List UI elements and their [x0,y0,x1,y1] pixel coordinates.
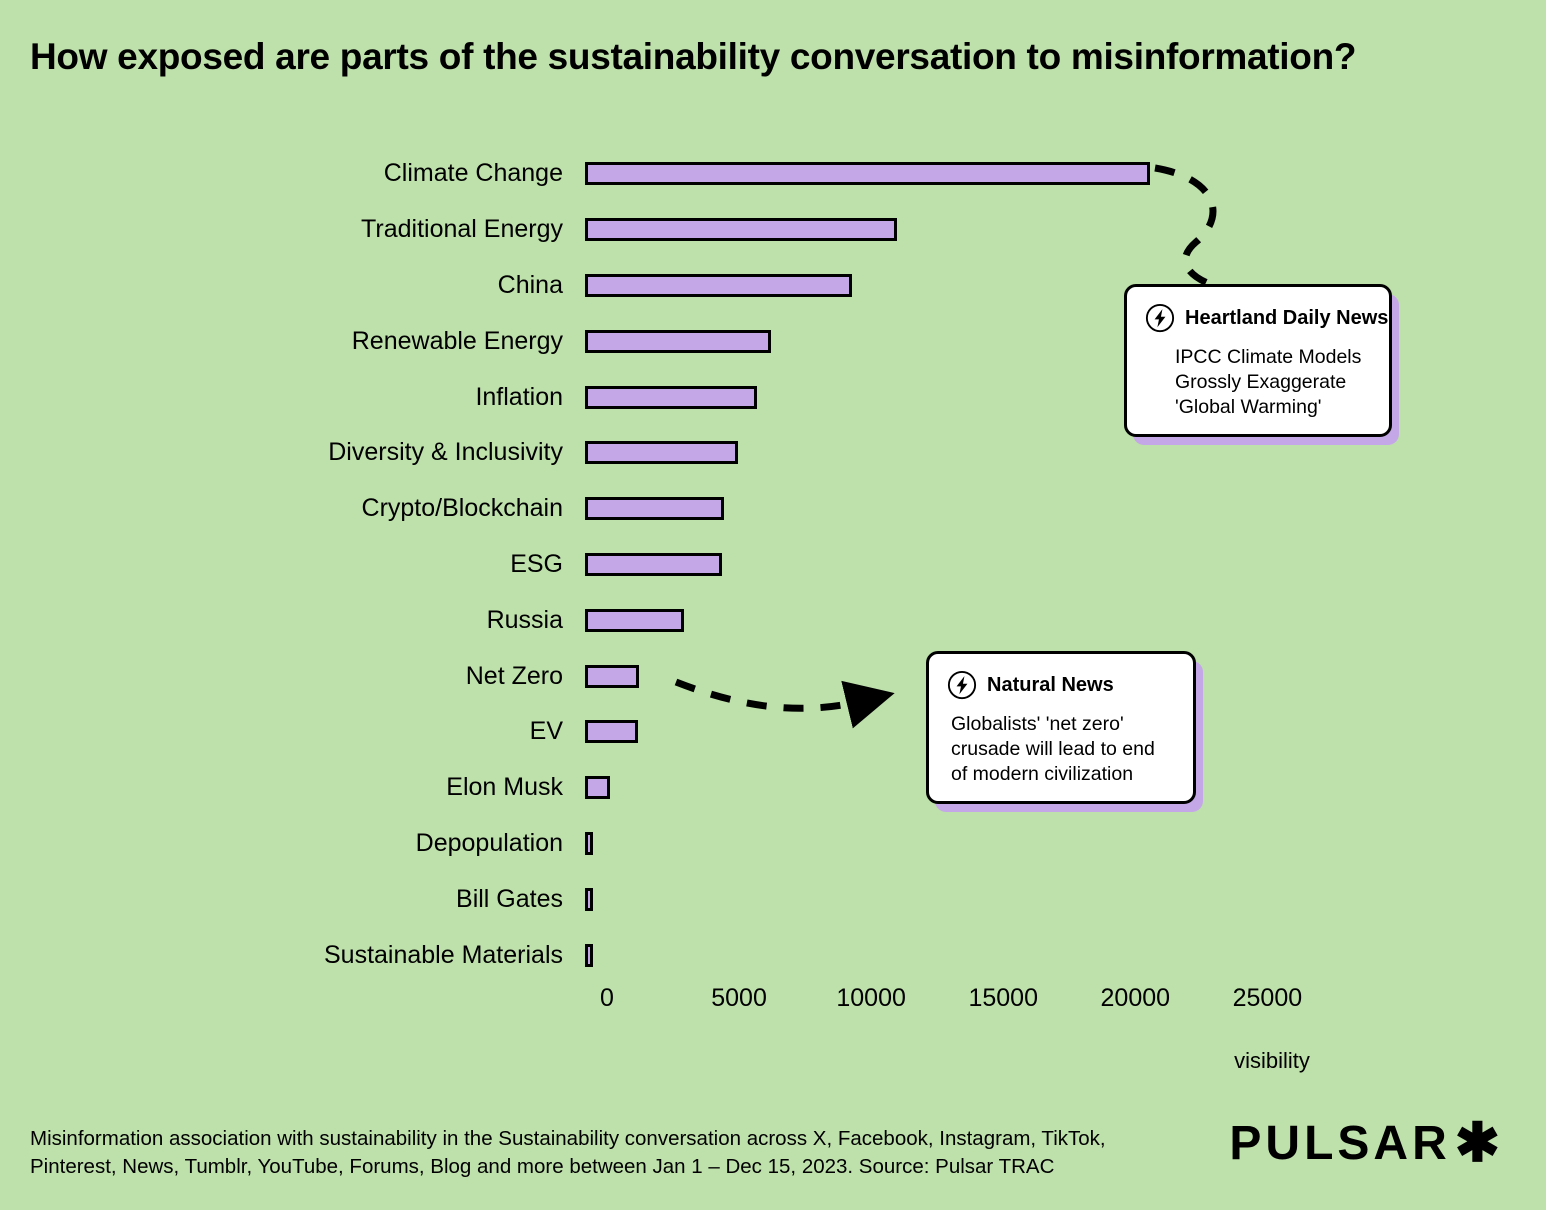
bar-track [585,537,1330,593]
footer-line-2: Pinterest, News, Tumblr, YouTube, Forums… [30,1153,1106,1181]
bar-row: Climate Change [0,146,1330,202]
bar-category-label: Inflation [0,385,585,410]
x-axis-label: visibility [0,1048,1546,1074]
bar-track [585,202,1330,258]
bar[interactable] [585,386,757,409]
bar-row: Bill Gates [0,871,1330,927]
bar-row: Russia [0,592,1330,648]
bar-category-label: Russia [0,608,585,633]
bar-row: Traditional Energy [0,202,1330,258]
x-tick-label: 20000 [1101,984,1171,1013]
bar[interactable] [585,497,724,520]
bar-track [585,927,1330,983]
callout-header: Natural News [947,670,1175,700]
callout-headline: IPCC Climate Models Grossly Exaggerate '… [1145,345,1371,420]
bar-category-label: Crypto/Blockchain [0,496,585,521]
lightning-bolt-icon [1145,303,1175,333]
lightning-bolt-icon [947,670,977,700]
bar[interactable] [585,274,852,297]
bar[interactable] [585,665,639,688]
logo-wordmark: PULSAR [1229,1116,1450,1171]
bar-row: Sustainable Materials [0,927,1330,983]
infographic-page: How exposed are parts of the sustainabil… [0,0,1546,1210]
bar-category-label: Depopulation [0,831,585,856]
x-tick-label: 15000 [968,984,1038,1013]
bar-category-label: China [0,273,585,298]
bar[interactable] [585,832,593,855]
bar-track [585,481,1330,537]
bar[interactable] [585,441,738,464]
bar[interactable] [585,609,684,632]
bar-track [585,816,1330,872]
bar-track [585,592,1330,648]
bar[interactable] [585,776,610,799]
bar-category-label: Traditional Energy [0,217,585,242]
bar[interactable] [585,888,593,911]
bar-row: ESG [0,537,1330,593]
bar-track [585,871,1330,927]
footer-line-1: Misinformation association with sustaina… [30,1125,1106,1153]
bar-category-label: Elon Musk [0,775,585,800]
callout-source-name: Natural News [987,674,1114,697]
bar-rows: Climate ChangeTraditional EnergyChinaRen… [0,146,1330,983]
footer-note: Misinformation association with sustaina… [30,1125,1106,1182]
bar-category-label: Net Zero [0,664,585,689]
x-tick-label: 10000 [836,984,906,1013]
bar[interactable] [585,330,771,353]
bar-category-label: Diversity & Inclusivity [0,440,585,465]
bar-track [585,146,1330,202]
bar-category-label: ESG [0,552,585,577]
x-tick-label: 5000 [711,984,767,1013]
bar[interactable] [585,720,638,743]
bar-row: Crypto/Blockchain [0,481,1330,537]
callout-source-name: Heartland Daily News [1185,307,1388,330]
pulsar-logo: PULSAR✱ [1229,1116,1504,1171]
bar-row: Depopulation [0,816,1330,872]
x-axis-ticks: 0500010000150002000025000 [0,984,1330,1024]
asterisk-icon: ✱ [1455,1122,1504,1165]
bar-category-label: Climate Change [0,161,585,186]
annotation-callout-heartland[interactable]: Heartland Daily News IPCC Climate Models… [1124,284,1392,437]
annotation-callout-natural[interactable]: Natural News Globalists' 'net zero' crus… [926,651,1196,804]
page-title: How exposed are parts of the sustainabil… [30,36,1356,78]
bar[interactable] [585,944,593,967]
x-tick-label: 0 [600,984,614,1013]
bar-category-label: EV [0,719,585,744]
bar[interactable] [585,162,1150,185]
bar-category-label: Renewable Energy [0,329,585,354]
bar-chart: Climate ChangeTraditional EnergyChinaRen… [0,146,1546,996]
bar-category-label: Bill Gates [0,887,585,912]
callout-header: Heartland Daily News [1145,303,1371,333]
bar[interactable] [585,553,722,576]
bar-category-label: Sustainable Materials [0,943,585,968]
callout-headline: Globalists' 'net zero' crusade will lead… [947,712,1175,787]
bar[interactable] [585,218,897,241]
x-tick-label: 25000 [1233,984,1303,1013]
